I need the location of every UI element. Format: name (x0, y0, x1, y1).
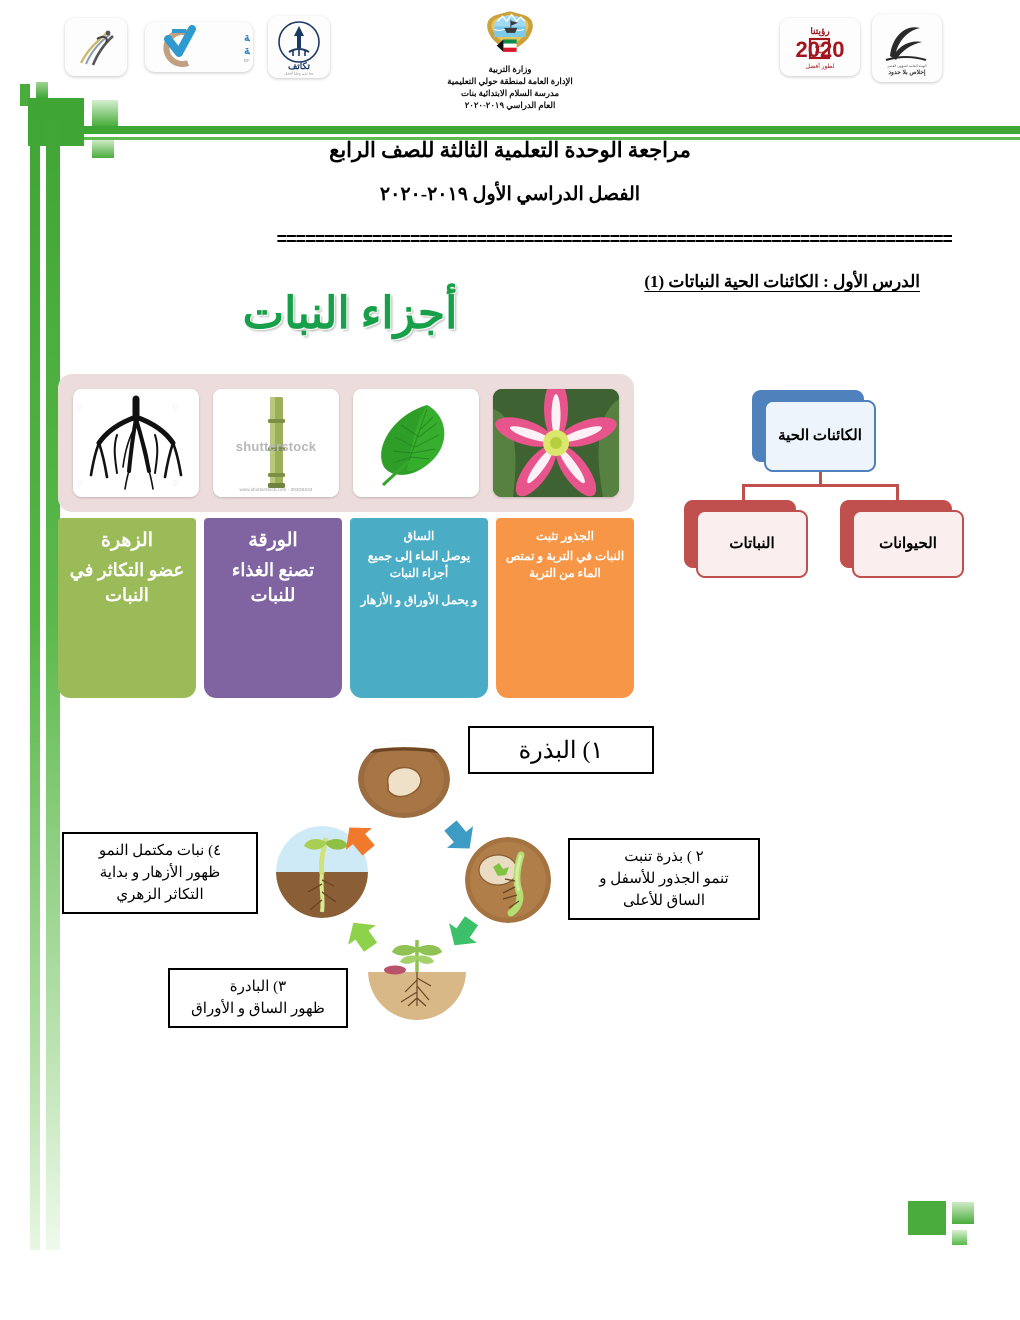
flower-info-body: عضو التكاثر في النبات (66, 558, 188, 608)
decor-bottom-square-small (952, 1230, 967, 1245)
stem-info-body2: و يحمل الأوراق و الأزهار (358, 592, 480, 609)
flower-info-head: الزهرة (66, 528, 188, 554)
stem-info-box: الساق يوصل الماء إلى جميع أجزاء النبات و… (350, 518, 488, 698)
svg-text:لطور أفضل: لطور أفضل (806, 61, 835, 70)
lifecycle-caption-3-line2: ظهور الساق و الأوراق (178, 998, 338, 1020)
stem-watermark: shutterstock (213, 439, 339, 454)
stem-info-body: يوصل الماء إلى جميع أجزاء النبات (358, 548, 480, 582)
charity-authority-icon: الهيئة العامة لشؤون القصر إخلاص بلا حدود (876, 18, 938, 78)
roots-photo: ◎◎ ◎◎ (73, 389, 199, 497)
ministry-line-2: الإدارة العامة لمنطقة حولي التعليمية (0, 75, 1020, 87)
charity-authority-logo: الهيئة العامة لشؤون القصر إخلاص بلا حدود (872, 14, 942, 82)
node-plants-label: النباتات (696, 510, 808, 578)
svg-text:◎: ◎ (76, 402, 83, 411)
decor-left-line-outer (30, 110, 40, 1250)
decor-bottom-square-medium (952, 1202, 974, 1224)
ministry-block: وزارة التربية الإدارة العامة لمنطقة حولي… (0, 6, 1020, 111)
lifecycle-caption-4-line2: ظهور الأزهار و بداية (72, 862, 248, 884)
leaf-info-box: الورقة تصنع الغذاء للنبات (204, 518, 342, 698)
seed-in-soil-icon (358, 740, 450, 818)
node-animals: الحيوانات (840, 500, 952, 568)
decor-header-rule (84, 126, 1020, 134)
roots-image: ◎◎ ◎◎ (73, 389, 199, 497)
connector-horizontal (742, 484, 898, 487)
roots-info-body: النبات في التربة و تمتص الماء من التربة (504, 548, 626, 582)
vision-2020-icon: رؤيتنا 2020 تعليم مبدع لطور أفضل (783, 22, 857, 72)
ministry-line-4: العام الدراسي ٢٠١٩-٢٠٢٠ (0, 99, 1020, 111)
roots-info-box: الجذور تثبت النبات في التربة و تمتص الما… (496, 518, 634, 698)
document-header: المدرسة الفاعلة EFFECTIVE SCHOOL تكاتف م… (0, 0, 1020, 122)
stage-seed-image (358, 740, 450, 818)
flower-info-box: الزهرة عضو التكاثر في النبات (58, 518, 196, 698)
lifecycle-caption-2-line1: ٢ ) بذرة تنبت (578, 846, 750, 868)
lifecycle-caption-3-line1: ٣) البادرة (178, 976, 338, 998)
germinating-seed-icon (465, 837, 551, 923)
lifecycle-caption-4-line3: التكاثر الزهري (72, 884, 248, 906)
kuwait-state-emblem-icon (481, 6, 539, 58)
page-title: مراجعة الوحدة التعلمية الثالثة للصف الرا… (0, 138, 1020, 163)
stem-watermark-sub: www.shutterstock.com · 303G8234 (213, 487, 339, 492)
lifecycle-caption-2-line2: تنمو الجذور للأسفل و (578, 868, 750, 890)
page-subtitle: الفصل الدراسي الأول ٢٠١٩-٢٠٢٠ (0, 183, 1020, 206)
lifecycle-caption-4: ٤) نبات مكتمل النمو ظهور الأزهار و بداية… (62, 832, 258, 914)
svg-text:إخلاص بلا حدود: إخلاص بلا حدود (888, 69, 926, 76)
ministry-line-3: مدرسة السلام الابتدائية بنات (0, 87, 1020, 99)
node-plants: النباتات (684, 500, 796, 568)
node-animals-label: الحيوانات (852, 510, 964, 578)
svg-text:◎: ◎ (76, 478, 83, 487)
living-things-classification-diagram: الكائنات الحية الحيوانات النباتات (668, 386, 968, 606)
leaf-image (353, 389, 479, 497)
svg-text:◎: ◎ (172, 402, 179, 411)
leaf-photo (353, 389, 479, 497)
decor-bottom-block (908, 1201, 946, 1235)
svg-text:الهيئة العامة لشؤون القصر: الهيئة العامة لشؤون القصر (886, 63, 926, 68)
wordart-plant-parts: أجزاء النبات (200, 288, 500, 339)
lifecycle-caption-4-line1: ٤) نبات مكتمل النمو (72, 840, 248, 862)
flower-image (493, 389, 619, 497)
dashed-separator: ========================================… (62, 232, 952, 246)
stem-info-head: الساق (358, 528, 480, 544)
stem-photo: shutterstock www.shutterstock.com · 303G… (213, 389, 339, 497)
vision-2020-logo: رؤيتنا 2020 تعليم مبدع لطور أفضل (780, 18, 860, 76)
node-living-things-label: الكائنات الحية (764, 400, 876, 472)
svg-text:رؤيتنا: رؤيتنا (810, 26, 829, 37)
leaf-info-body: تصنع الغذاء للنبات (212, 558, 334, 608)
lesson-heading: الدرس الأول : الكائنات الحية النباتات (1… (644, 272, 920, 292)
svg-text:◎: ◎ (172, 478, 179, 487)
roots-info-head: الجذور تثبت (504, 528, 626, 544)
lifecycle-caption-3: ٣) البادرة ظهور الساق و الأوراق (168, 968, 348, 1028)
node-living-things: الكائنات الحية (752, 390, 864, 462)
leaf-info-head: الورقة (212, 528, 334, 554)
document-page: المدرسة الفاعلة EFFECTIVE SCHOOL تكاتف م… (0, 0, 1020, 1320)
stage-germinating-image (465, 837, 551, 923)
plant-parts-info-row: الجذور تثبت النبات في التربة و تمتص الما… (58, 518, 634, 698)
lifecycle-caption-2-line3: الساق للأعلى (578, 890, 750, 912)
plant-parts-photo-strip: shutterstock www.shutterstock.com · 303G… (58, 374, 634, 512)
lifecycle-caption-2: ٢ ) بذرة تنبت تنمو الجذور للأسفل و الساق… (568, 838, 760, 920)
flower-photo (493, 389, 619, 497)
ministry-line-1: وزارة التربية (0, 63, 1020, 75)
